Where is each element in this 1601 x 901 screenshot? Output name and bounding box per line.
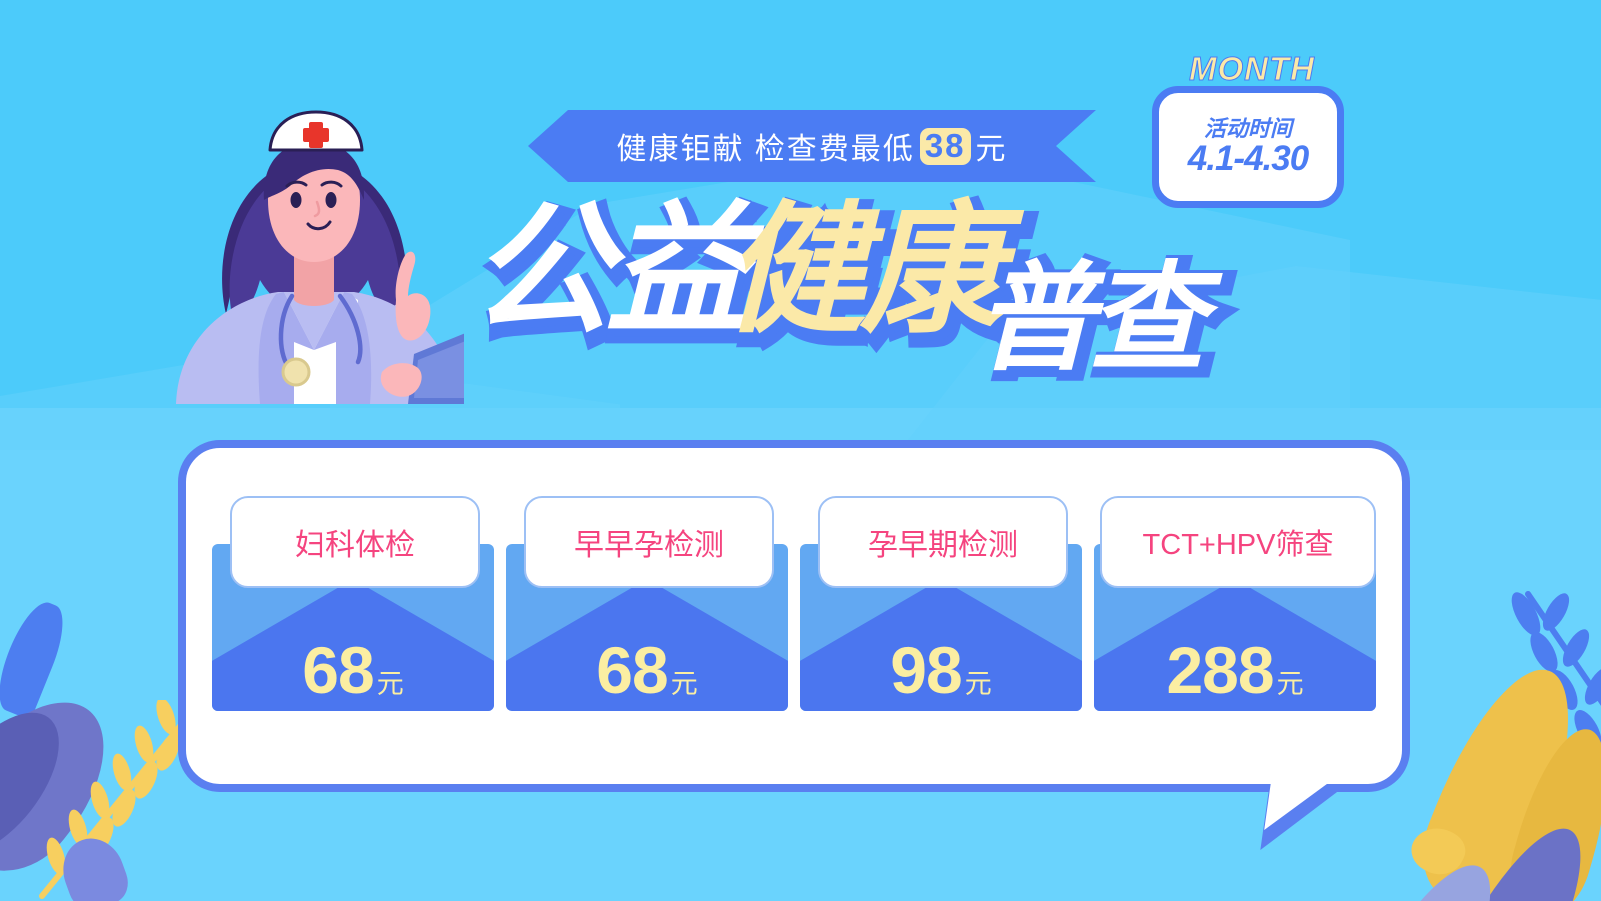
card-price-unit: 元 <box>965 669 992 699</box>
card-price-value: 68 <box>596 633 667 707</box>
subtitle-banner: 健康钜献 检查费最低38元 <box>528 110 1096 182</box>
page-title: 公益 公益 健康 健康 普查 普查 <box>470 196 1200 376</box>
date-label: 活动时间 <box>1204 117 1292 141</box>
card-price-unit: 元 <box>377 669 404 699</box>
date-range: 4.1-4.30 <box>1188 141 1308 178</box>
card-price-value: 288 <box>1166 633 1273 707</box>
price-card[interactable]: 妇科体检 68元 <box>212 496 494 711</box>
title-part-3: 普查 <box>976 257 1200 381</box>
card-price-value: 98 <box>890 633 961 707</box>
card-title: 孕早期检测 <box>868 520 1018 564</box>
title-part-1: 公益 <box>470 196 742 346</box>
campaign-date-badge: MONTH 活动时间 4.1-4.30 <box>1152 44 1342 224</box>
price-card-panel: 妇科体检 68元 早早孕检测 68元 孕早期检测 <box>178 440 1410 792</box>
card-price: 288元 <box>1094 637 1376 703</box>
card-title: 早早孕检测 <box>574 520 724 564</box>
card-price-value: 68 <box>302 633 373 707</box>
card-title: TCT+HPV筛查 <box>1143 521 1334 563</box>
card-price-unit: 元 <box>671 669 698 699</box>
card-title: 妇科体检 <box>295 520 415 564</box>
date-bubble: 活动时间 4.1-4.30 <box>1152 86 1344 208</box>
card-label: 早早孕检测 <box>524 496 774 588</box>
card-price: 98元 <box>800 637 1082 703</box>
subtitle-text: 健康钜献 检查费最低38元 <box>616 124 1007 168</box>
card-price: 68元 <box>212 637 494 703</box>
price-card[interactable]: 早早孕检测 68元 <box>506 496 788 711</box>
card-label: TCT+HPV筛查 <box>1100 496 1376 588</box>
card-label: 妇科体检 <box>230 496 480 588</box>
title-part-2: 健康 <box>724 196 996 346</box>
card-price: 68元 <box>506 637 788 703</box>
price-card[interactable]: 孕早期检测 98元 <box>800 496 1082 711</box>
price-card[interactable]: TCT+HPV筛查 288元 <box>1094 496 1376 711</box>
subtitle-price-highlight: 38 <box>920 128 971 165</box>
card-price-unit: 元 <box>1277 669 1304 699</box>
nurse-illustration <box>168 104 464 404</box>
card-label: 孕早期检测 <box>818 496 1068 588</box>
month-word: MONTH <box>1172 50 1332 88</box>
title-part-3-wrap: 普查 普查 <box>976 209 1200 333</box>
subtitle-after: 元 <box>976 124 1008 168</box>
promo-banner: 健康钜献 检查费最低38元 MONTH 活动时间 4.1-4.30 公益 公益 … <box>0 0 1601 901</box>
title-part-2-wrap: 健康 健康 <box>724 196 996 346</box>
subtitle-before: 健康钜献 检查费最低 <box>616 124 914 168</box>
title-part-1-wrap: 公益 公益 <box>470 196 742 346</box>
panel-tail-fill <box>1264 776 1338 830</box>
